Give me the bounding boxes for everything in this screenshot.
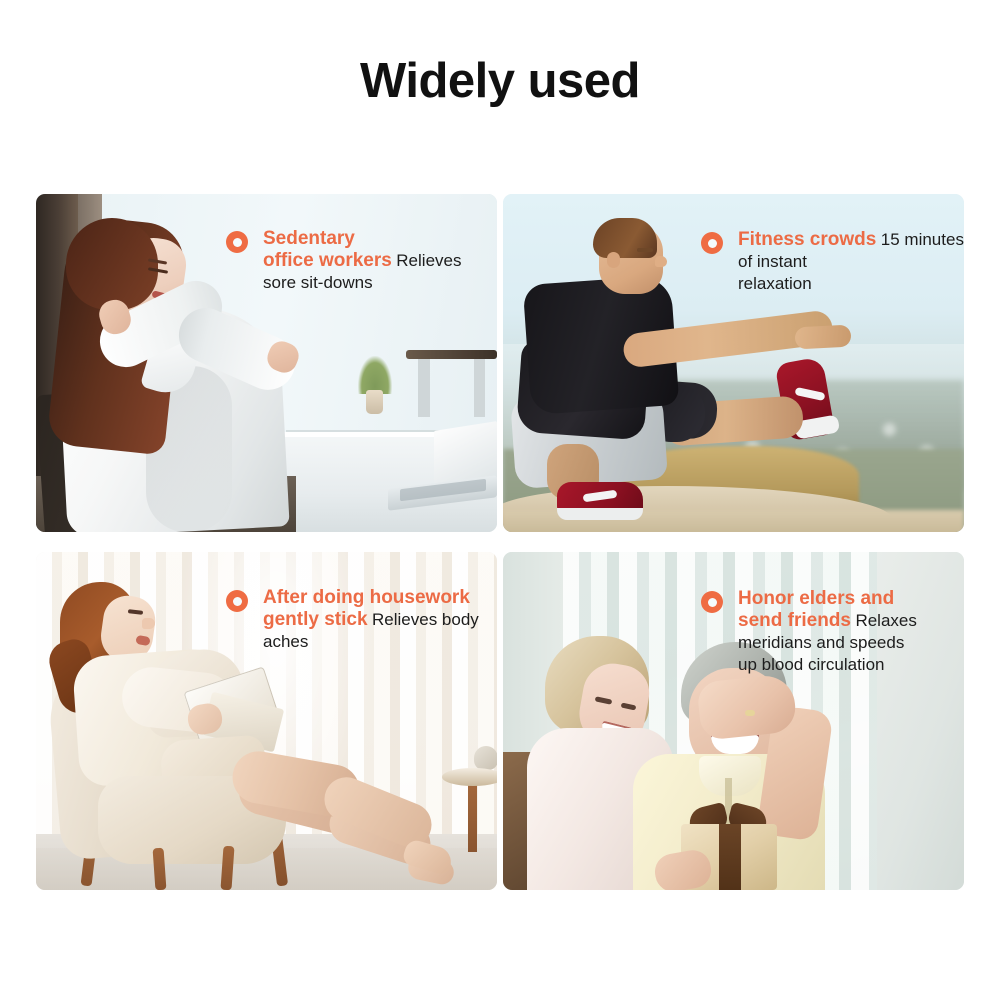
panel-caption-sedentary-office-workers: Sedentary office workers Relieves sore s…	[226, 228, 497, 294]
mans-shoe-left-sole	[557, 508, 643, 520]
caption-heading: Sedentary office workers	[263, 228, 392, 271]
caption-heading: Fitness crowds	[738, 229, 876, 250]
wedding-ring	[745, 710, 755, 716]
panel-caption-honor-elders-send-friends: Honor elders and send friends Relaxes me…	[701, 588, 964, 676]
use-case-panel-honor-elders-send-friends[interactable]: Honor elders and send friends Relaxes me…	[503, 552, 964, 890]
side-table-top	[442, 768, 497, 786]
office-shelf-leg-left	[418, 359, 430, 417]
office-shelf	[406, 350, 497, 359]
caption-text-block: Sedentary office workers Relieves sore s…	[263, 228, 497, 294]
mans-ear	[607, 252, 620, 268]
use-case-panel-fitness-crowds[interactable]: Fitness crowds 15 minutes of instant rel…	[503, 194, 964, 532]
panel-caption-after-doing-housework: After doing housework gently stick Relie…	[226, 587, 497, 653]
woman-hair-top	[66, 218, 158, 310]
mans-hand	[794, 325, 851, 350]
page-title: Widely used	[0, 52, 1000, 110]
caption-text-block: After doing housework gently stick Relie…	[263, 587, 497, 653]
office-plant-pot	[366, 390, 383, 414]
side-table-object	[474, 746, 497, 770]
mans-nose	[655, 256, 667, 267]
caption-text-block: Fitness crowds 15 minutes of instant rel…	[738, 229, 964, 295]
use-case-panel-after-doing-housework[interactable]: After doing housework gently stick Relie…	[36, 552, 497, 890]
office-shelf-leg-right	[474, 359, 485, 417]
mans-eyebrow	[637, 248, 653, 252]
use-case-panel-sedentary-office-workers[interactable]: Sedentary office workers Relieves sore s…	[36, 194, 497, 532]
caption-text-block: Honor elders and send friends Relaxes me…	[738, 588, 964, 676]
woman-nose	[142, 618, 155, 629]
ring-bullet-icon	[701, 232, 723, 254]
office-plant-leaves	[358, 356, 392, 394]
use-case-panel-grid: Sedentary office workers Relieves sore s…	[36, 194, 964, 890]
mans-hair	[593, 218, 657, 258]
ring-bullet-icon	[701, 591, 723, 613]
side-table-leg	[468, 782, 477, 852]
ring-bullet-icon	[226, 231, 248, 253]
ring-bullet-icon	[226, 590, 248, 612]
panel-caption-fitness-crowds: Fitness crowds 15 minutes of instant rel…	[701, 229, 964, 295]
gift-ribbon	[719, 824, 741, 890]
